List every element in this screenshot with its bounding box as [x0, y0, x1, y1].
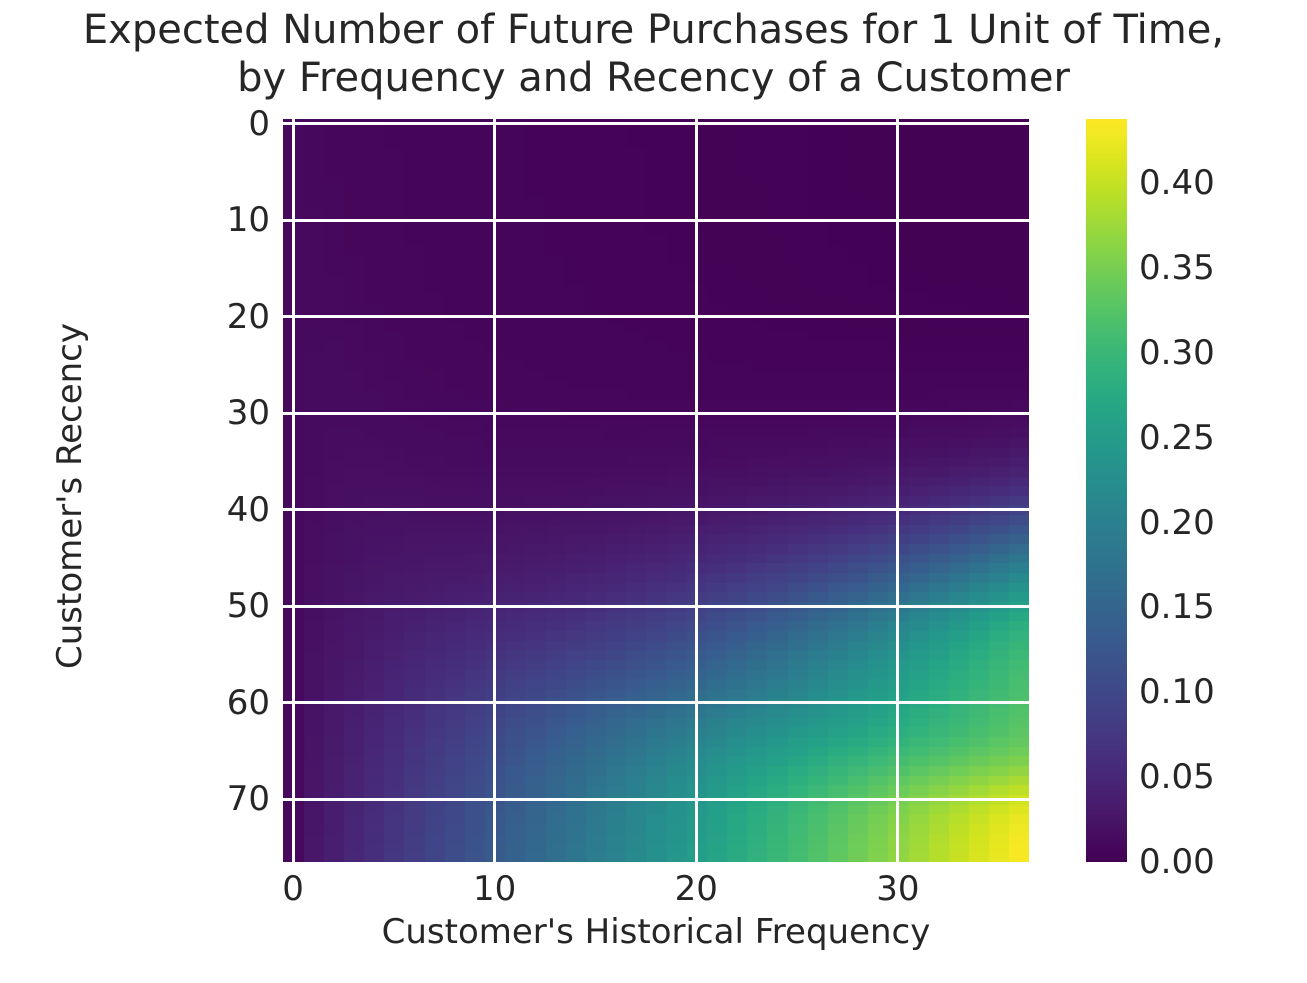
colorbar-tick-label: 0.10	[1139, 675, 1215, 709]
y-tick-label: 30	[175, 396, 270, 430]
colorbar-tick-label: 0.00	[1139, 845, 1215, 879]
colorbar-tick-label: 0.40	[1139, 166, 1215, 200]
heatmap-image	[283, 119, 1029, 862]
x-axis-label: Customer's Historical Frequency	[283, 912, 1029, 952]
y-tick-label: 40	[175, 493, 270, 527]
x-tick-label: 30	[876, 872, 919, 906]
y-tick-label: 50	[175, 589, 270, 623]
heatmap-plot-area[interactable]	[283, 119, 1029, 862]
x-tick-label: 20	[675, 872, 718, 906]
colorbar-tick-label: 0.25	[1139, 421, 1215, 455]
colorbar-tick-label: 0.15	[1139, 590, 1215, 624]
y-axis-label: Customer's Recency	[50, 236, 90, 756]
chart-title: Expected Number of Future Purchases for …	[0, 6, 1307, 102]
y-tick-label: 70	[175, 782, 270, 816]
colorbar-tick-label: 0.35	[1139, 251, 1215, 285]
figure-canvas: Expected Number of Future Purchases for …	[0, 0, 1307, 983]
y-tick-label: 0	[175, 107, 270, 141]
y-tick-label: 60	[175, 686, 270, 720]
colorbar[interactable]	[1086, 119, 1127, 862]
colorbar-tick-label: 0.20	[1139, 506, 1215, 540]
y-tick-label: 20	[175, 300, 270, 334]
colorbar-tick-label: 0.30	[1139, 336, 1215, 370]
x-tick-label: 0	[282, 872, 304, 906]
y-tick-label: 10	[175, 203, 270, 237]
x-tick-label: 10	[473, 872, 516, 906]
colorbar-tick-label: 0.05	[1139, 760, 1215, 794]
colorbar-gradient	[1086, 119, 1127, 862]
